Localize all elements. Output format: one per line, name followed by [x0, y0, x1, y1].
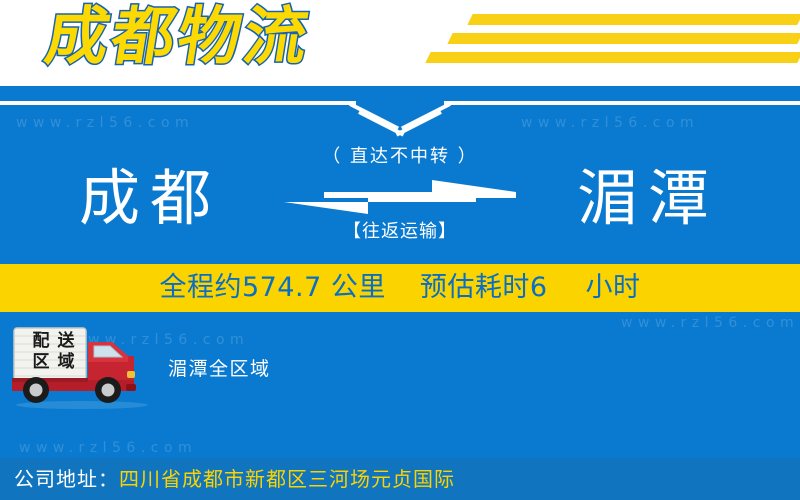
truck-box-label-line1: 配 送: [18, 331, 90, 352]
company-address-value: 四川省成都市新都区三河场元贞国际: [119, 467, 455, 491]
decorative-stripes: [420, 14, 800, 72]
logistics-poster: 成都物流 www.rzl56.com www.rzl56.com www.rzl…: [0, 0, 800, 500]
route-center-column: （ 直达不中转 ） 【往返运输】: [270, 144, 530, 256]
truck-box-label: 配 送 区 域: [18, 331, 90, 373]
stripe-2: [447, 33, 800, 44]
duration-unit: 小时: [586, 272, 641, 303]
distance-text: 全程约574.7 公里预估耗时6小时: [0, 264, 800, 312]
destination-city: 湄潭: [528, 156, 768, 242]
stripe-3: [425, 52, 800, 63]
main-blue-panel: www.rzl56.com www.rzl56.com www.rzl56.co…: [0, 86, 800, 458]
footer-bar: 公司地址：四川省成都市新都区三河场元贞国际: [0, 458, 800, 500]
delivery-region-text: 湄潭全区域: [168, 354, 271, 381]
divider-line-right: [444, 101, 800, 105]
page-title: 成都物流: [40, 2, 315, 73]
direct-service-tag: （ 直达不中转 ）: [270, 144, 530, 170]
company-address-label: 公司地址：: [14, 467, 119, 491]
distance-bar: 全程约574.7 公里预估耗时6小时: [0, 264, 800, 312]
distance-value: 574.7: [242, 272, 322, 303]
origin-city: 成都: [30, 156, 270, 242]
duration-prefix: 预估耗时: [420, 272, 530, 303]
bidirectional-arrow-icon: [284, 180, 516, 216]
divider-line-left: [0, 101, 356, 105]
company-address-row: 公司地址：四川省成都市新都区三河场元贞国际: [14, 458, 455, 500]
stripe-1: [467, 14, 800, 25]
truck-box-label-line2: 区 域: [18, 352, 90, 373]
duration-value: 6: [530, 272, 548, 303]
distance-prefix: 全程约: [159, 272, 242, 303]
watermark: www.rzl56.com: [19, 440, 197, 456]
delivery-region-row: 配 送 区 域 湄潭全区域: [0, 326, 800, 418]
distance-unit: 公里: [331, 272, 386, 303]
header-band: 成都物流: [0, 0, 800, 86]
divider-rule: [0, 101, 800, 135]
delivery-truck-icon: 配 送 区 域: [8, 326, 154, 410]
double-chevron-down-icon: [352, 101, 448, 135]
round-trip-tag: 【往返运输】: [270, 220, 530, 244]
